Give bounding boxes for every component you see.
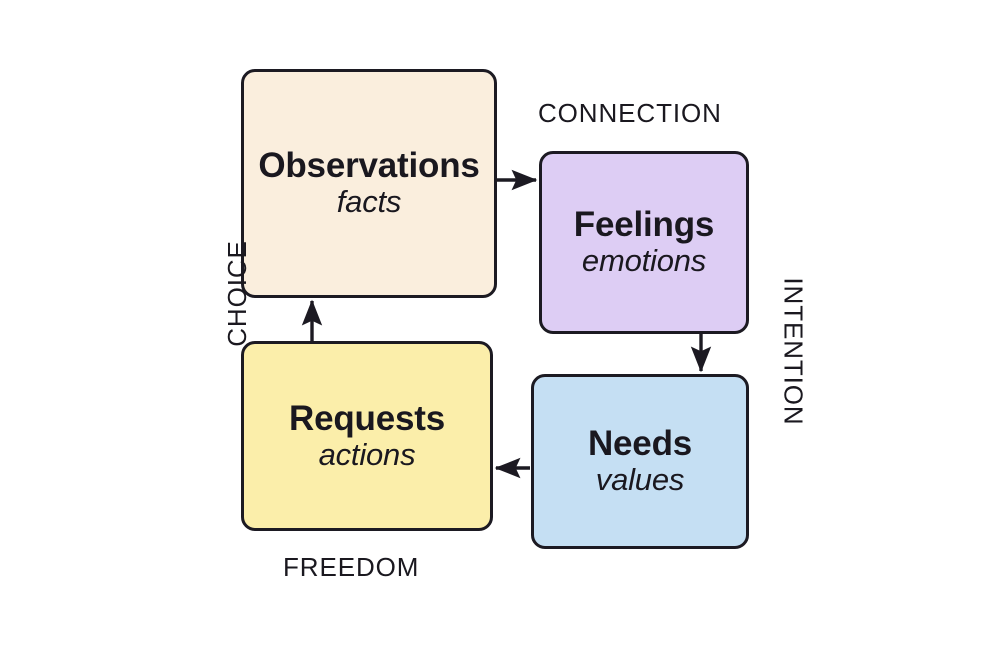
node-observations-subtitle: facts [337,185,401,218]
node-requests[interactable]: Requests actions [241,341,493,531]
edge-label-connection: CONNECTION [538,98,722,129]
node-needs-title: Needs [588,426,692,462]
node-needs-subtitle: values [596,463,684,496]
node-observations[interactable]: Observations facts [241,69,497,298]
node-requests-title: Requests [289,401,445,437]
node-needs[interactable]: Needs values [531,374,749,549]
edge-label-intention: INTENTION [778,277,809,425]
node-feelings-title: Feelings [574,207,714,243]
diagram-canvas: Observations facts Feelings emotions Nee… [0,0,1000,670]
node-observations-title: Observations [258,148,479,184]
connector-layer [0,0,1000,670]
node-feelings-subtitle: emotions [582,244,706,277]
node-feelings[interactable]: Feelings emotions [539,151,749,334]
edge-label-freedom: FREEDOM [283,552,419,583]
node-requests-subtitle: actions [319,438,416,471]
edge-label-choice: CHOICE [222,240,253,347]
